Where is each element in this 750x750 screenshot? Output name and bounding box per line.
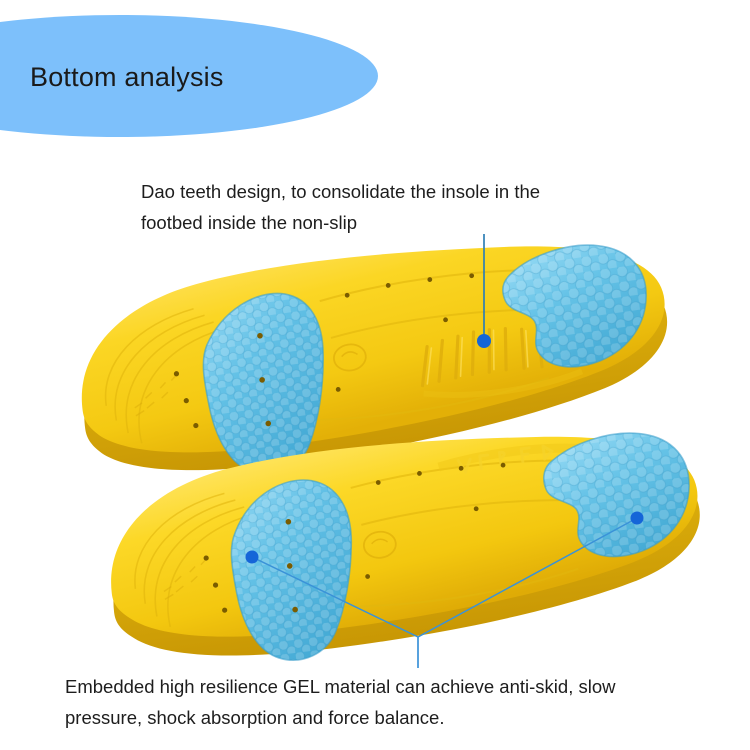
product-infographic-page: Bottom analysis xyxy=(0,0,750,750)
callout-gel-heel-dot xyxy=(631,512,644,525)
callout-gel-forefoot-dot xyxy=(246,551,259,564)
insole-illustration xyxy=(0,0,750,750)
caption-gel-material: Embedded high resilience GEL material ca… xyxy=(65,671,725,733)
caption-dao-teeth: Dao teeth design, to consolidate the ins… xyxy=(141,176,681,238)
callout-dao-teeth-dot xyxy=(477,334,491,348)
